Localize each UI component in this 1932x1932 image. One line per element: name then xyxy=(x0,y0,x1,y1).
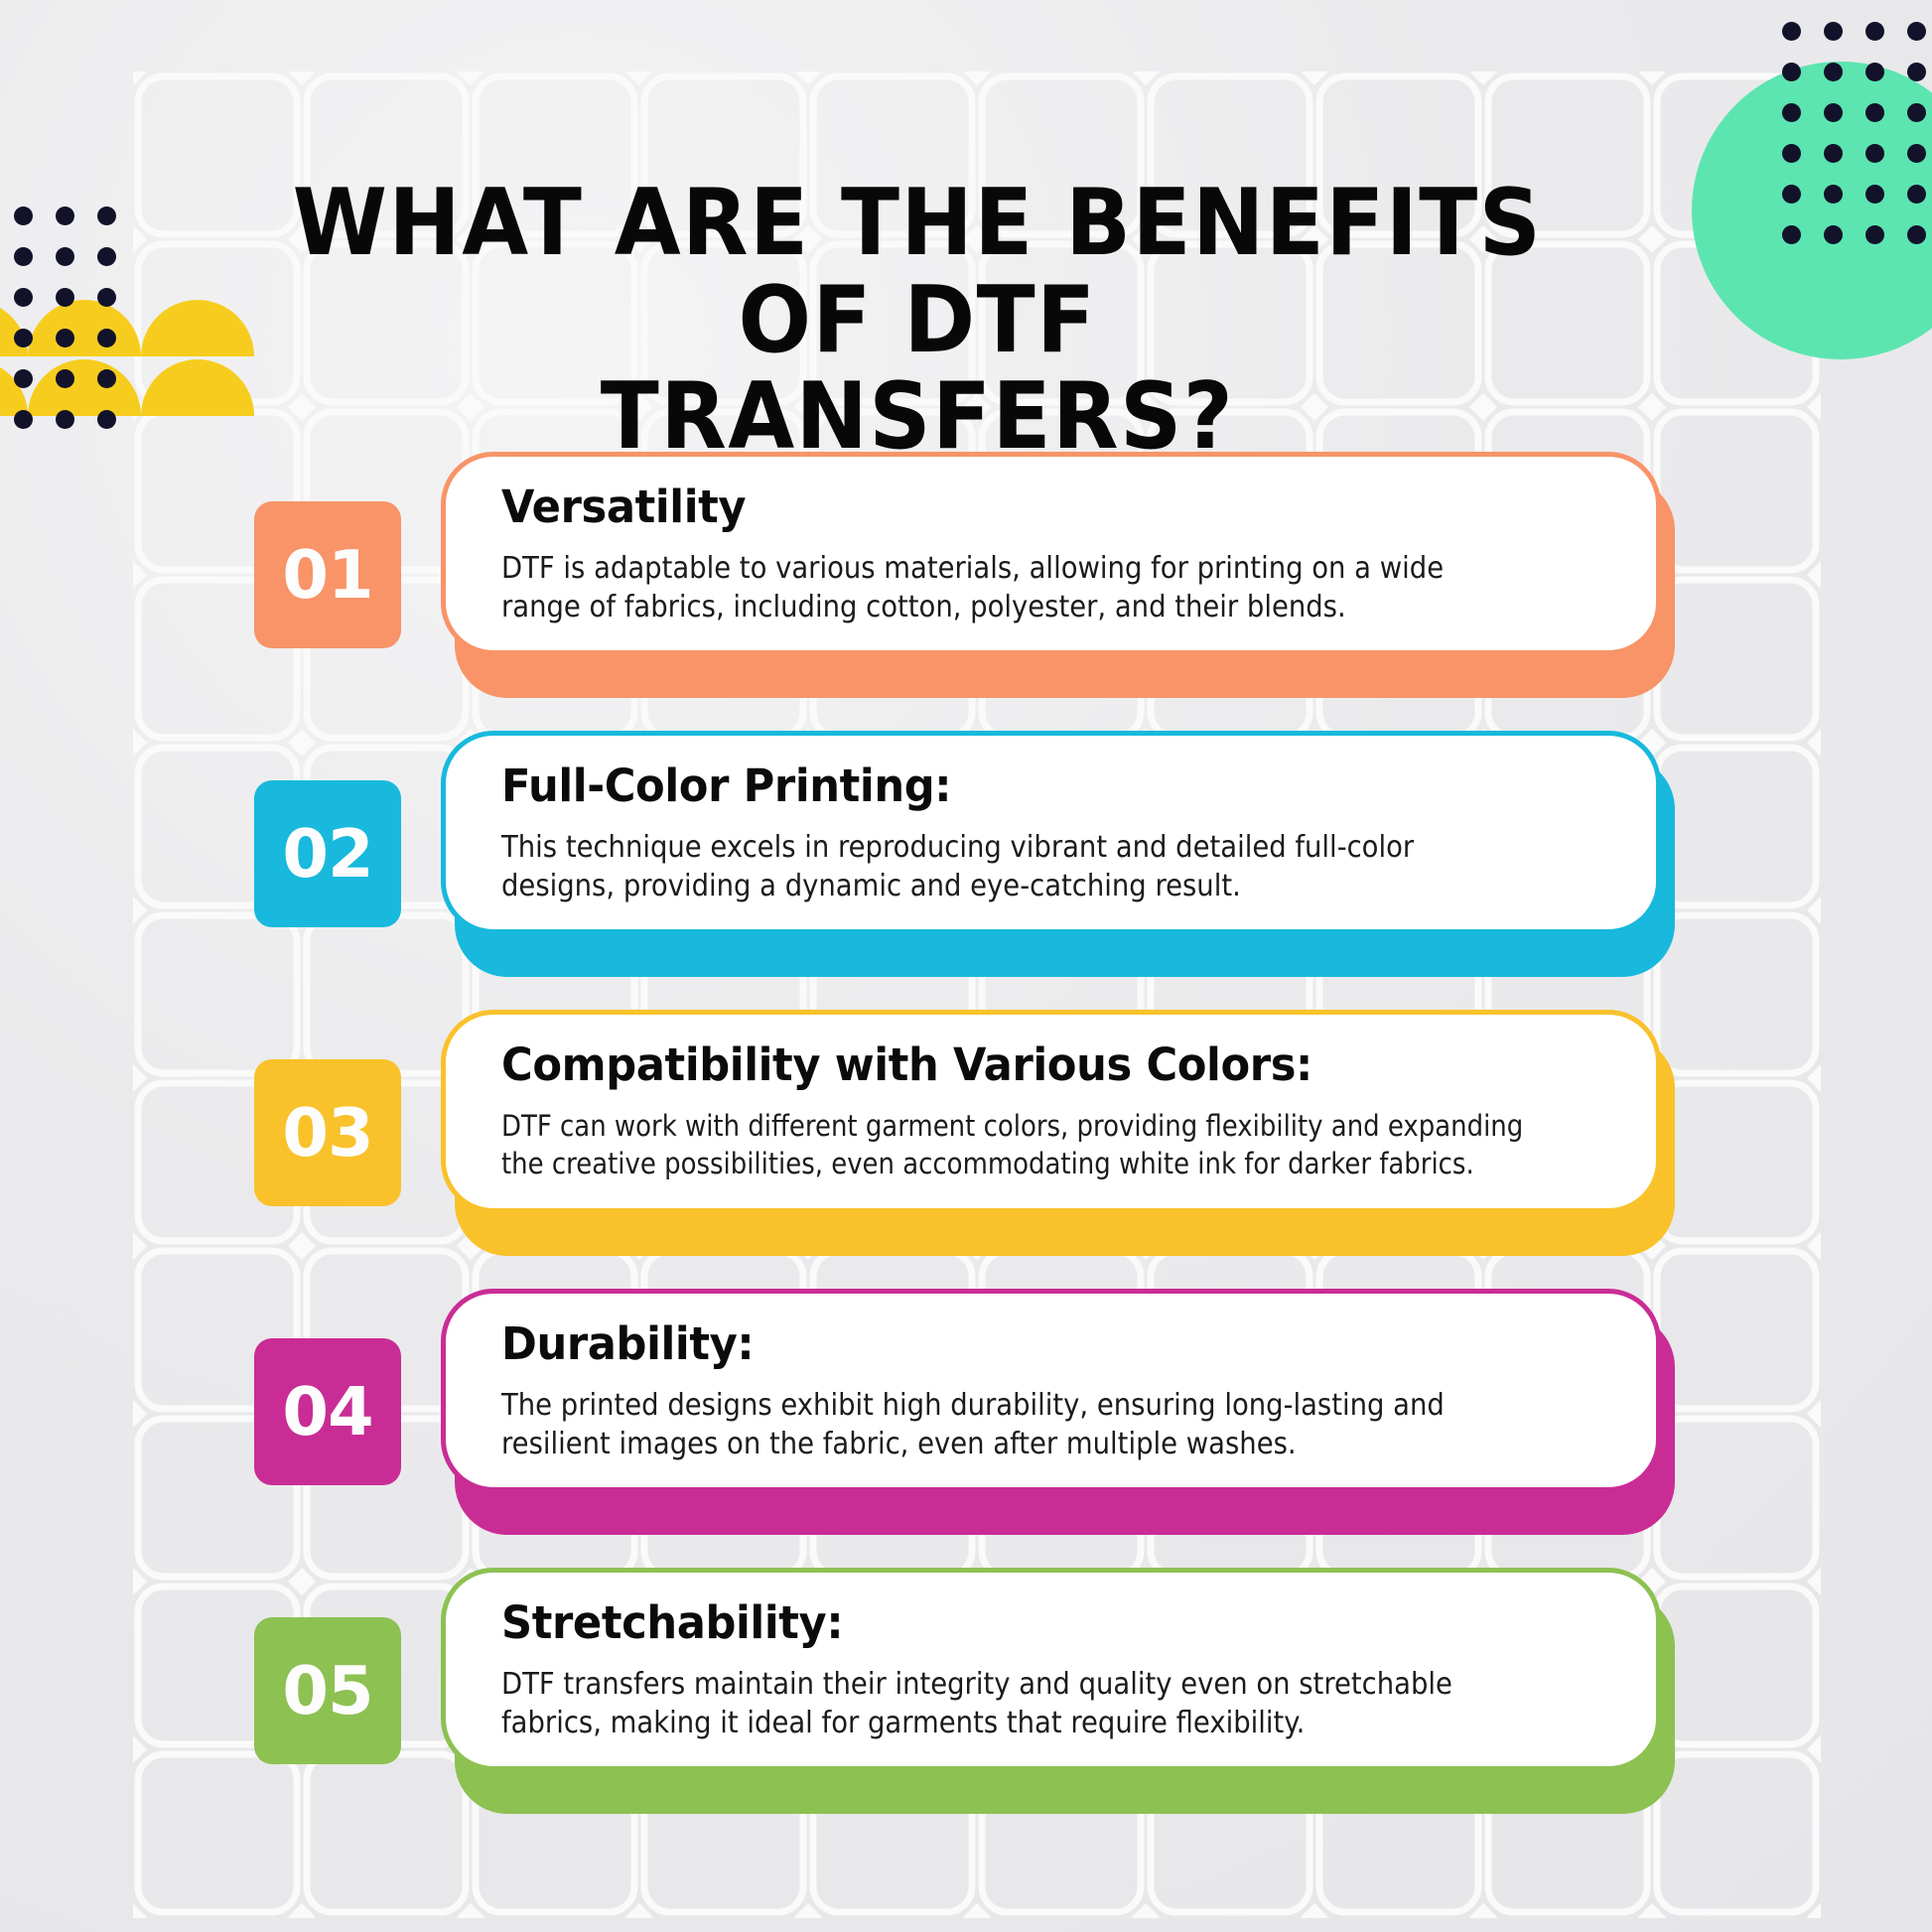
benefit-number: 04 xyxy=(282,1373,372,1450)
benefit-body-line-1: DTF can work with different garment colo… xyxy=(501,1107,1577,1145)
benefit-body-line-2: range of fabrics, including cotton, poly… xyxy=(501,588,1601,627)
benefit-card[interactable]: Versatility DTF is adaptable to various … xyxy=(441,452,1675,680)
benefit-body-line-1: The printed designs exhibit high durabil… xyxy=(501,1386,1601,1426)
benefit-body: DTF is adaptable to various materials, a… xyxy=(501,549,1601,627)
benefit-number: 03 xyxy=(282,1094,372,1172)
benefit-number: 05 xyxy=(282,1652,372,1729)
benefit-body-line-2: fabrics, making it ideal for garments th… xyxy=(501,1704,1601,1743)
benefit-row: 05 Stretchability: DTF transfers maintai… xyxy=(0,1568,1932,1829)
benefit-body-line-2: the creative possibilities, even accommo… xyxy=(501,1145,1577,1182)
benefit-number-badge: 05 xyxy=(254,1617,401,1764)
benefit-row: 04 Durability: The printed designs exhib… xyxy=(0,1289,1932,1550)
card-surface: Compatibility with Various Colors: DTF c… xyxy=(441,1010,1661,1213)
benefit-card[interactable]: Stretchability: DTF transfers maintain t… xyxy=(441,1568,1675,1796)
benefit-row: 02 Full-Color Printing: This technique e… xyxy=(0,731,1932,992)
benefit-body: This technique excels in reproducing vib… xyxy=(501,828,1601,906)
benefit-body-line-1: This technique excels in reproducing vib… xyxy=(501,828,1601,868)
benefit-card[interactable]: Full-Color Printing: This technique exce… xyxy=(441,731,1675,959)
benefit-body: DTF can work with different garment colo… xyxy=(501,1107,1577,1183)
benefit-body-line-1: DTF is adaptable to various materials, a… xyxy=(501,549,1601,589)
benefit-body-line-2: resilient images on the fabric, even aft… xyxy=(501,1425,1601,1464)
benefit-list: 01 Versatility DTF is adaptable to vario… xyxy=(0,452,1932,1847)
benefit-title: Stretchability: xyxy=(501,1598,1568,1648)
dot-grid-top-right xyxy=(1782,22,1932,270)
benefit-title: Compatibility with Various Colors: xyxy=(501,1040,1568,1090)
benefit-card[interactable]: Durability: The printed designs exhibit … xyxy=(441,1289,1675,1517)
benefit-body-line-2: designs, providing a dynamic and eye-cat… xyxy=(501,867,1601,906)
card-surface: Versatility DTF is adaptable to various … xyxy=(441,452,1661,655)
benefit-number: 01 xyxy=(282,536,372,614)
benefit-card[interactable]: Compatibility with Various Colors: DTF c… xyxy=(441,1010,1675,1238)
benefit-number: 02 xyxy=(282,815,372,893)
card-surface: Stretchability: DTF transfers maintain t… xyxy=(441,1568,1661,1771)
benefit-number-badge: 04 xyxy=(254,1338,401,1485)
benefit-number-badge: 01 xyxy=(254,501,401,648)
benefit-number-badge: 03 xyxy=(254,1059,401,1206)
page-title: WHAT ARE THE BENEFITS OF DTF TRANSFERS? xyxy=(280,175,1554,466)
benefit-title: Versatility xyxy=(501,483,1568,532)
page-title-line-1: WHAT ARE THE BENEFITS OF DTF xyxy=(293,169,1543,373)
benefit-body-line-1: DTF transfers maintain their integrity a… xyxy=(501,1665,1601,1705)
benefit-body: DTF transfers maintain their integrity a… xyxy=(501,1665,1601,1743)
card-surface: Full-Color Printing: This technique exce… xyxy=(441,731,1661,934)
benefit-row: 01 Versatility DTF is adaptable to vario… xyxy=(0,452,1932,713)
benefit-number-badge: 02 xyxy=(254,780,401,927)
benefit-row: 03 Compatibility with Various Colors: DT… xyxy=(0,1010,1932,1271)
benefit-title: Durability: xyxy=(501,1319,1568,1369)
benefit-title: Full-Color Printing: xyxy=(501,761,1568,811)
card-surface: Durability: The printed designs exhibit … xyxy=(441,1289,1661,1492)
benefit-body: The printed designs exhibit high durabil… xyxy=(501,1386,1601,1464)
